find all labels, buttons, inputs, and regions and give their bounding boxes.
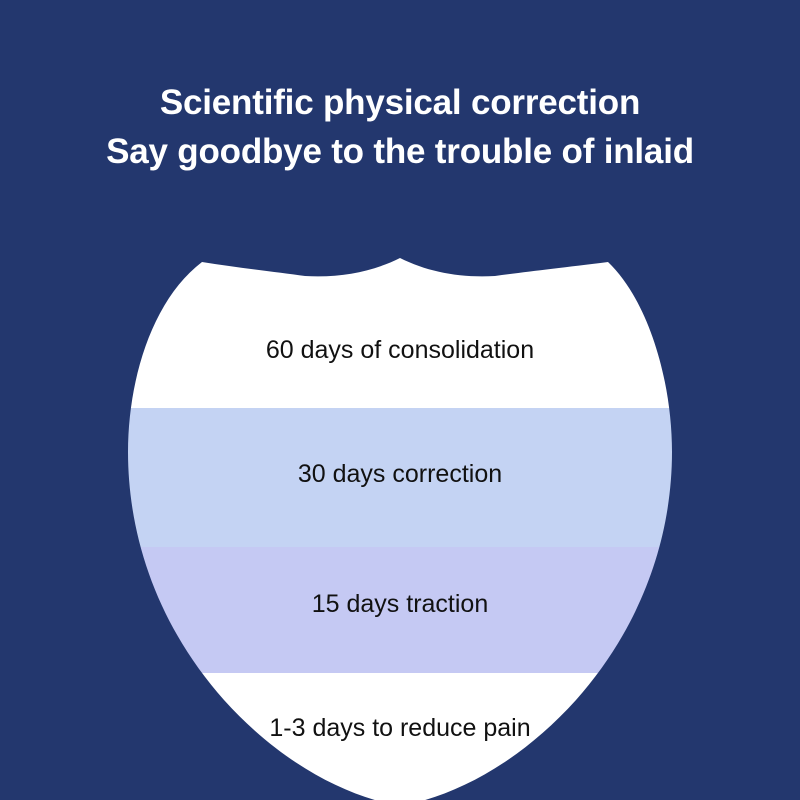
shield-band-label-30-days: 30 days correction [0,460,800,489]
shield-band-label-1-3-days: 1-3 days to reduce pain [0,714,800,743]
shield-band-label-15-days: 15 days traction [0,590,800,619]
poster-canvas: Scientific physical correction Say goodb… [0,0,800,800]
headline-line-2: Say goodbye to the trouble of inlaid [0,127,800,176]
shield-band-label-60-days: 60 days of consolidation [0,336,800,365]
headline-line-1: Scientific physical correction [0,78,800,127]
page-title: Scientific physical correction Say goodb… [0,78,800,176]
shield-band-rect-0 [0,250,800,408]
